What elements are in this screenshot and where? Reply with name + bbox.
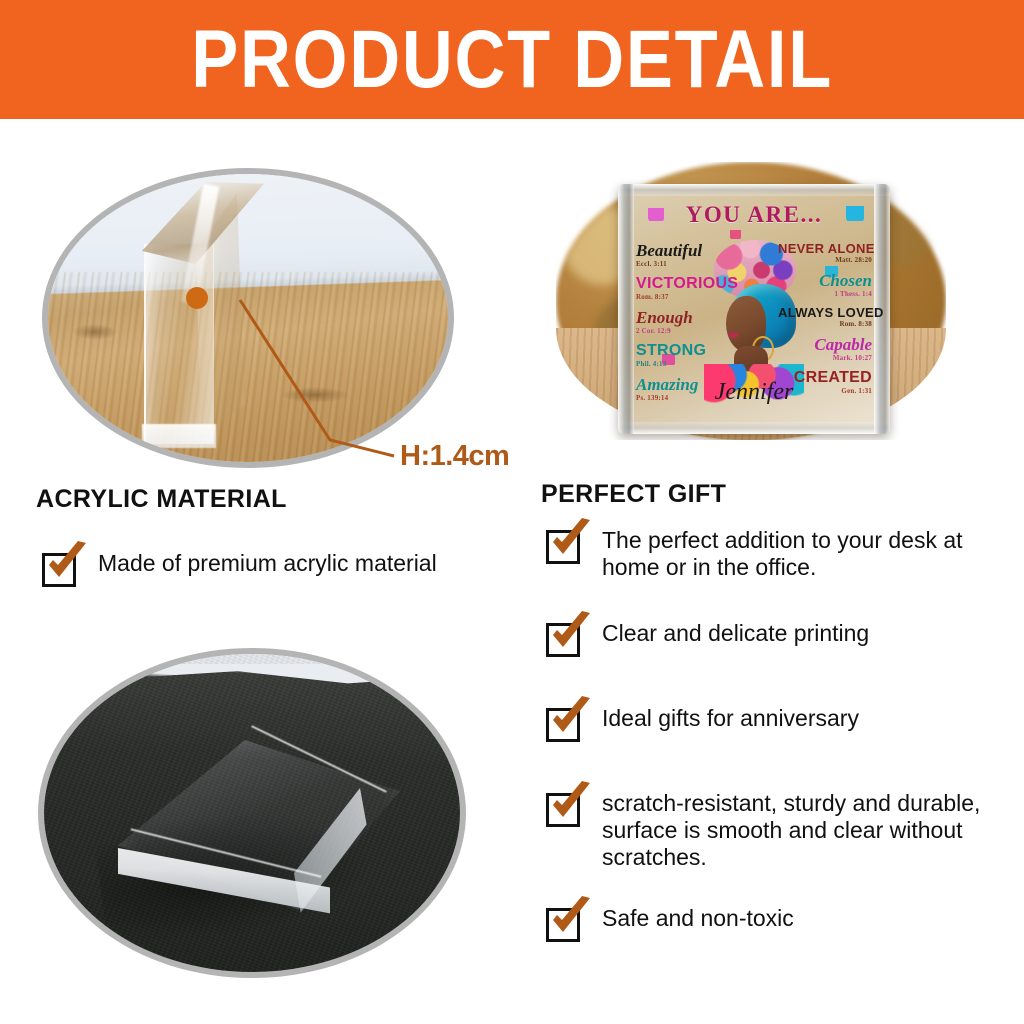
checkmark-icon (546, 708, 580, 742)
plaque-bottom-bevel (618, 422, 890, 434)
plaque-reference: Eccl. 3:11 (636, 260, 730, 268)
checkmark-icon (546, 623, 580, 657)
butterfly-icon (846, 206, 864, 221)
list-item: Safe and non-toxic (546, 905, 998, 942)
checkmark-icon (546, 908, 580, 942)
list-item: Clear and delicate printing (546, 620, 998, 657)
plaque-word: NEVER ALONE (778, 242, 872, 255)
plaque-word: ALWAYS LOVED (778, 306, 872, 319)
list-item-label: Made of premium acrylic material (98, 550, 437, 577)
acrylic-block-standing (134, 182, 264, 446)
list-item: Ideal gifts for anniversary (546, 705, 998, 742)
wood-knot (72, 324, 118, 340)
plaque-word: Chosen (778, 272, 872, 289)
photo-personalized-plaque: YOU ARE... Beautiful Eccl. 3:11 VICTORIO… (556, 162, 946, 440)
plaque-word: STRONG (636, 343, 730, 359)
plaque-reference: Rom. 8:38 (778, 320, 872, 328)
plaque-reference: Phil. 4:13 (636, 360, 730, 368)
list-item: Made of premium acrylic material (42, 550, 512, 587)
callout-dot-icon (186, 287, 208, 309)
page-title: PRODUCT DETAIL (191, 19, 833, 101)
photo-acrylic-block-standing (42, 168, 454, 468)
height-callout-label: H:1.4cm (400, 440, 509, 473)
plaque-word: Beautiful (636, 242, 730, 259)
checkmark-icon (546, 530, 580, 564)
section-heading-acrylic-material: ACRYLIC MATERIAL (36, 485, 287, 514)
plaque-title: YOU ARE... (634, 202, 874, 228)
plaque-personalized-name: Jennifer (634, 379, 874, 406)
photo-acrylic-block-flat (38, 648, 466, 978)
plaque-reference: Mark. 10:27 (778, 354, 872, 362)
plaque-left-bevel (618, 184, 634, 434)
wood-table-scene (48, 174, 448, 462)
acrylic-block-flat (118, 740, 400, 946)
list-item-label: scratch-resistant, sturdy and durable, s… (602, 790, 1006, 871)
plaque-word: Enough (636, 309, 730, 326)
plaque-artwork: YOU ARE... Beautiful Eccl. 3:11 VICTORIO… (634, 196, 874, 422)
butterfly-icon (648, 208, 664, 221)
plaque-reference: 2 Cor. 12:9 (636, 327, 730, 335)
list-item-label: The perfect addition to your desk at hom… (602, 527, 998, 581)
checkmark-icon (42, 553, 76, 587)
list-item: The perfect addition to your desk at hom… (546, 527, 998, 581)
list-item-label: Safe and non-toxic (602, 905, 794, 932)
list-item-label: Ideal gifts for anniversary (602, 705, 859, 732)
wood-knot (280, 387, 350, 403)
plaque-reference: 1 Thess. 1:4 (778, 290, 872, 298)
checkmark-icon (546, 793, 580, 827)
list-item-label: Clear and delicate printing (602, 620, 869, 647)
block-base-reflection (142, 424, 216, 448)
plaque-reference: Rom. 8:37 (636, 293, 730, 301)
acrylic-plaque: YOU ARE... Beautiful Eccl. 3:11 VICTORIO… (618, 184, 890, 434)
plaque-word: Capable (778, 336, 872, 353)
slate-surface-scene (44, 654, 460, 972)
plaque-word: VICTORIOUS (636, 276, 730, 292)
page-header-banner: PRODUCT DETAIL (0, 0, 1024, 119)
plaque-top-bevel (618, 184, 890, 196)
list-item: scratch-resistant, sturdy and durable, s… (546, 790, 1006, 871)
butterfly-icon (730, 230, 741, 239)
section-heading-perfect-gift: PERFECT GIFT (541, 480, 726, 509)
plaque-reference: Matt. 28:20 (778, 256, 872, 264)
